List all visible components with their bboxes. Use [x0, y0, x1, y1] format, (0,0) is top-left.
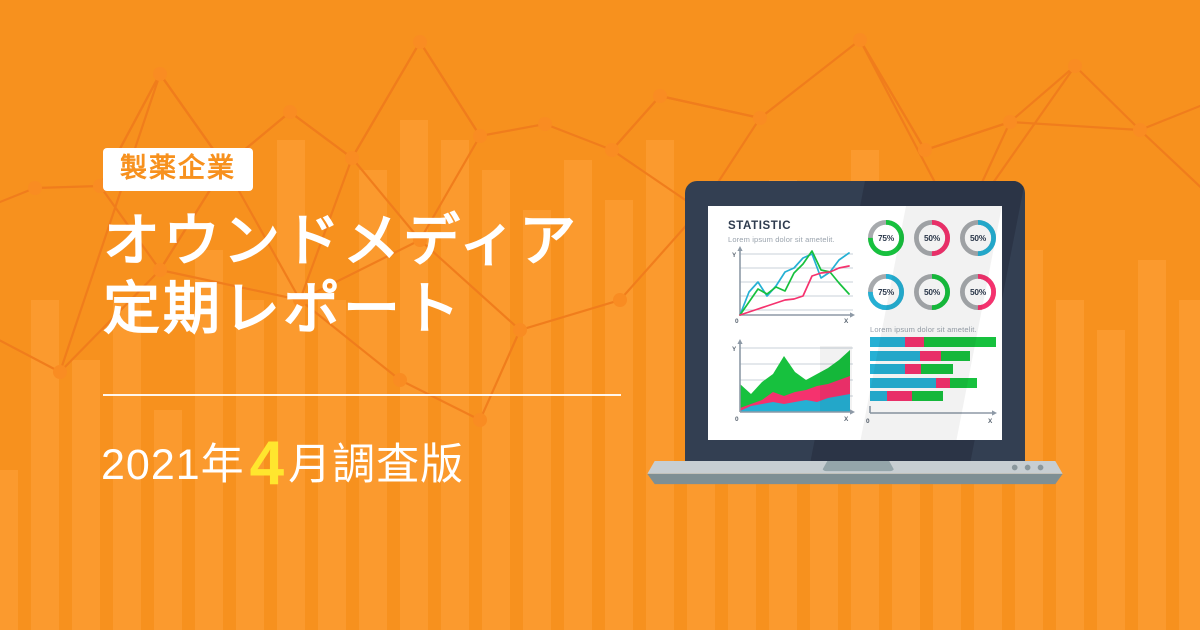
- divider: [103, 394, 621, 396]
- bar-row: [870, 351, 970, 361]
- donut-value-label: 75%: [868, 274, 904, 310]
- donut-chart: 50%: [960, 220, 996, 256]
- bar-segment: [905, 337, 924, 347]
- poster-canvas: 製薬企業 オウンドメディア 定期レポート 2021年 4 月調査版 STATIS…: [0, 0, 1200, 630]
- category-badge: 製薬企業: [103, 148, 253, 191]
- bar-segment: [870, 337, 905, 347]
- bar-segment: [870, 378, 936, 388]
- bar-segment: [924, 337, 996, 347]
- page-title: オウンドメディア 定期レポート: [103, 207, 579, 343]
- svg-text:0: 0: [866, 418, 870, 425]
- line-chart: Y 0 X: [722, 244, 856, 326]
- donut-chart: 50%: [914, 220, 950, 256]
- svg-text:0: 0: [735, 416, 739, 423]
- bar-segment: [912, 391, 943, 401]
- bar-row: [870, 364, 953, 374]
- date-line: 2021年 4 月調査版: [101, 428, 464, 490]
- donut-value-label: 50%: [960, 220, 996, 256]
- date-year: 2021年: [101, 444, 245, 487]
- donut-chart-grid: 75%50%50%75%50%50%: [868, 220, 996, 318]
- donut-value-label: 50%: [914, 274, 950, 310]
- screen-subtitle: Lorem ipsum dolor sit ametelit.: [728, 235, 835, 244]
- laptop-screen: STATISTIC Lorem ipsum dolor sit ametelit…: [708, 206, 1002, 440]
- date-month: 4: [250, 433, 285, 495]
- donut-chart: 75%: [868, 220, 904, 256]
- svg-text:Y: Y: [732, 252, 737, 259]
- donut-value-label: 75%: [868, 220, 904, 256]
- page-title-line2: 定期レポート: [103, 275, 579, 343]
- bar-segment: [950, 378, 977, 388]
- donut-chart: 75%: [868, 274, 904, 310]
- area-chart: Y 0 X: [722, 334, 856, 426]
- bar-chart-axis: 0 X: [866, 404, 1000, 426]
- bar-segment: [870, 391, 887, 401]
- laptop-illustration: STATISTIC Lorem ipsum dolor sit ametelit…: [630, 165, 1080, 495]
- laptop-lid: STATISTIC Lorem ipsum dolor sit ametelit…: [685, 181, 1025, 466]
- laptop-base: [630, 461, 1080, 485]
- svg-text:X: X: [844, 318, 849, 325]
- bar-row: [870, 378, 977, 388]
- bar-segment: [936, 378, 951, 388]
- donut-chart: 50%: [914, 274, 950, 310]
- bar-segment: [920, 351, 941, 361]
- svg-text:Y: Y: [732, 346, 737, 353]
- date-suffix: 月調査版: [288, 444, 464, 487]
- bar-row: [870, 337, 996, 347]
- bar-segment: [905, 364, 921, 374]
- bar-segment: [887, 391, 912, 401]
- bar-segment: [870, 364, 905, 374]
- donut-chart: 50%: [960, 274, 996, 310]
- svg-text:X: X: [988, 418, 993, 425]
- bar-segment: [870, 351, 920, 361]
- bar-row: [870, 391, 943, 401]
- bar-segment: [941, 351, 970, 361]
- screen-title: STATISTIC: [728, 220, 791, 232]
- svg-text:X: X: [844, 416, 849, 423]
- donut-value-label: 50%: [960, 274, 996, 310]
- svg-text:0: 0: [735, 318, 739, 325]
- donut-value-label: 50%: [914, 220, 950, 256]
- bar-chart-caption: Lorem ipsum dolor sit ametelit.: [870, 325, 977, 334]
- bar-segment: [921, 364, 953, 374]
- left-content: 製薬企業 オウンドメディア 定期レポート 2021年 4 月調査版: [0, 0, 660, 630]
- page-title-line1: オウンドメディア: [103, 209, 579, 273]
